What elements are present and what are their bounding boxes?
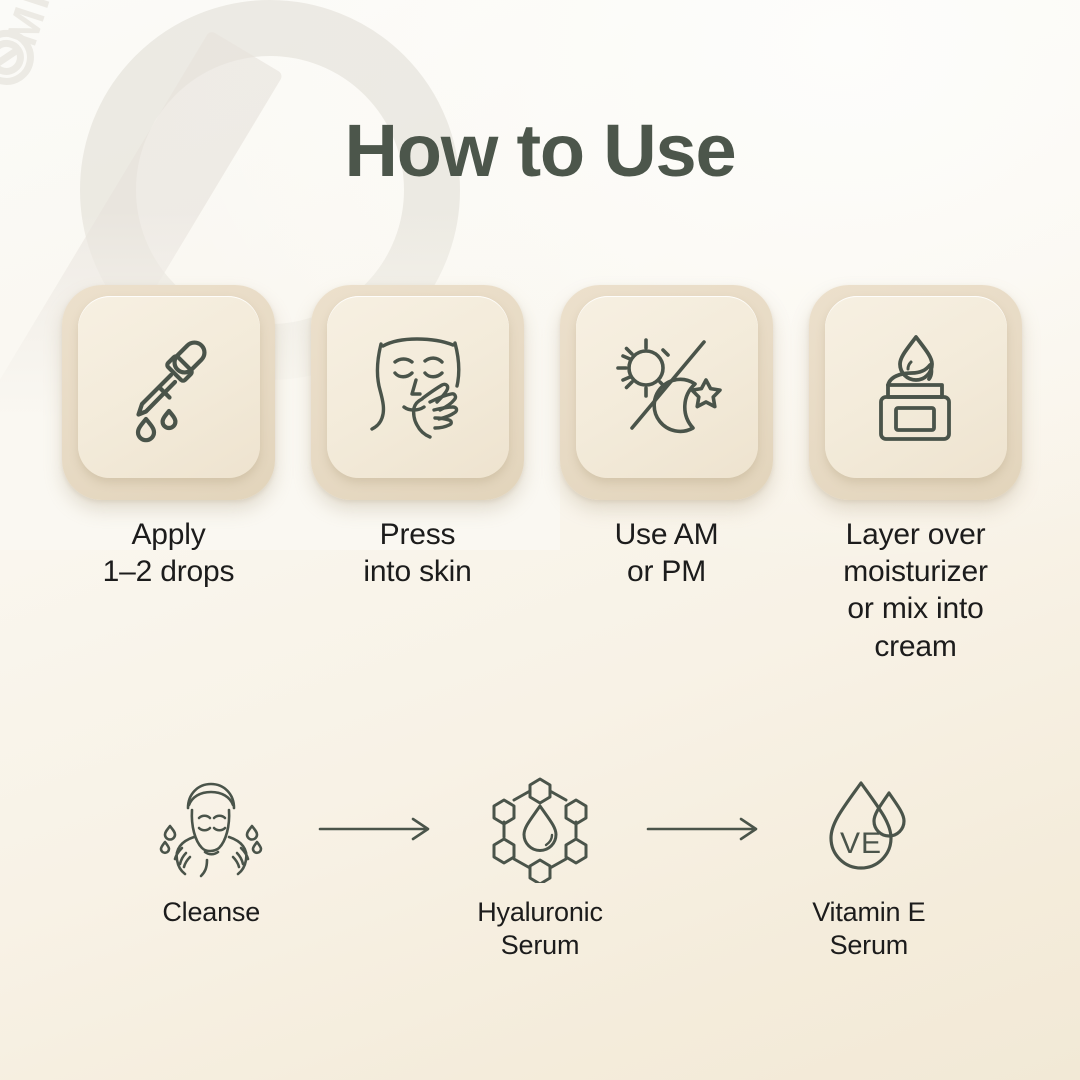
droplet-shape xyxy=(524,806,556,851)
step-label-line2: into skin xyxy=(363,553,471,590)
routine-step-hyaluronic[interactable]: Hyaluronic Serum xyxy=(439,770,641,963)
cream-jar-droplet-icon xyxy=(858,329,974,445)
routine-label-line1: Hyaluronic xyxy=(477,896,603,929)
routine-icon-wrap xyxy=(152,770,270,888)
routine-step-label: Hyaluronic Serum xyxy=(477,896,603,963)
step-label-line2: moisturizer xyxy=(843,553,988,590)
arrow-right-icon xyxy=(318,817,434,841)
hairline xyxy=(189,792,233,805)
step-card-face xyxy=(327,296,509,478)
step-card-label: Layer over moisturizer or mix into cream xyxy=(843,516,988,665)
step-card-label: Press into skin xyxy=(363,516,471,590)
routine-icon-wrap xyxy=(488,770,592,888)
step-card-face xyxy=(78,296,260,478)
sun-moon-am-pm-icon xyxy=(608,328,726,446)
circle-slash-logo-icon xyxy=(0,24,40,91)
watermark-wordmark: MIANA xyxy=(0,0,148,68)
routine-step-vitamin-e[interactable]: VE Vitamin E Serum xyxy=(768,770,970,963)
hand-left xyxy=(175,837,194,874)
routine-step-label: Vitamin E Serum xyxy=(812,896,925,963)
molecule-droplet-icon xyxy=(488,775,592,883)
dropper-pipette-icon xyxy=(113,331,225,443)
hexagon-lattice xyxy=(494,779,586,883)
eyebrow-left xyxy=(199,816,210,818)
eyebrow-right xyxy=(214,816,225,818)
routine-step-cleanse[interactable]: Cleanse xyxy=(110,770,312,929)
routine-label-line1: Vitamin E xyxy=(812,896,925,929)
routine-label-line1: Cleanse xyxy=(162,896,260,929)
vitamin-e-droplet-icon: VE xyxy=(817,775,921,883)
step-label-line1: Layer over xyxy=(843,516,988,553)
face-cleanse-icon xyxy=(152,774,270,884)
step-label-line2: 1–2 drops xyxy=(103,553,235,590)
step-label-line1: Press xyxy=(363,516,471,553)
step-label-line1: Apply xyxy=(103,516,235,553)
routine-flow-row: Cleanse xyxy=(110,770,970,963)
step-label-line4: cream xyxy=(843,628,988,665)
moon-icon xyxy=(654,379,695,431)
poster-canvas: MIANA How to Use xyxy=(0,0,1080,1080)
routine-step-label: Cleanse xyxy=(162,896,260,929)
step-card-layer[interactable]: Layer over moisturizer or mix into cream xyxy=(809,285,1022,665)
neck xyxy=(201,860,207,876)
arrow-right-icon xyxy=(646,817,762,841)
step-card-frame xyxy=(311,285,524,500)
eye-left xyxy=(199,828,210,830)
step-card-apply[interactable]: Apply 1–2 drops xyxy=(62,285,275,665)
step-card-face xyxy=(576,296,758,478)
face-press-hand-icon xyxy=(359,328,477,446)
routine-label-line2: Serum xyxy=(812,929,925,962)
vitamin-e-badge-text: VE xyxy=(840,827,882,860)
step-label-line2: or PM xyxy=(615,553,719,590)
droplet-shine xyxy=(546,835,552,845)
steps-row: Apply 1–2 drops xyxy=(62,285,1022,665)
watermark-logo-group: MIANA xyxy=(0,0,207,108)
routine-arrow-2 xyxy=(641,770,767,888)
step-label-line3: or mix into xyxy=(843,590,988,627)
step-card-frame xyxy=(62,285,275,500)
svg-text:MIANA: MIANA xyxy=(0,0,93,51)
routine-label-line2: Serum xyxy=(477,929,603,962)
jar-body xyxy=(881,397,949,439)
eye-right xyxy=(214,828,225,830)
step-label-line1: Use AM xyxy=(615,516,719,553)
mouth xyxy=(205,852,218,854)
hand-right xyxy=(229,837,248,874)
step-card-frame xyxy=(560,285,773,500)
jar-label xyxy=(896,408,934,430)
page-title: How to Use xyxy=(0,114,1080,188)
step-card-face xyxy=(825,296,1007,478)
step-card-label: Apply 1–2 drops xyxy=(103,516,235,590)
routine-icon-wrap: VE xyxy=(817,770,921,888)
routine-arrow-1 xyxy=(312,770,438,888)
step-card-frame xyxy=(809,285,1022,500)
step-card-press[interactable]: Press into skin xyxy=(311,285,524,665)
step-card-label: Use AM or PM xyxy=(615,516,719,590)
step-card-am-pm[interactable]: Use AM or PM xyxy=(560,285,773,665)
